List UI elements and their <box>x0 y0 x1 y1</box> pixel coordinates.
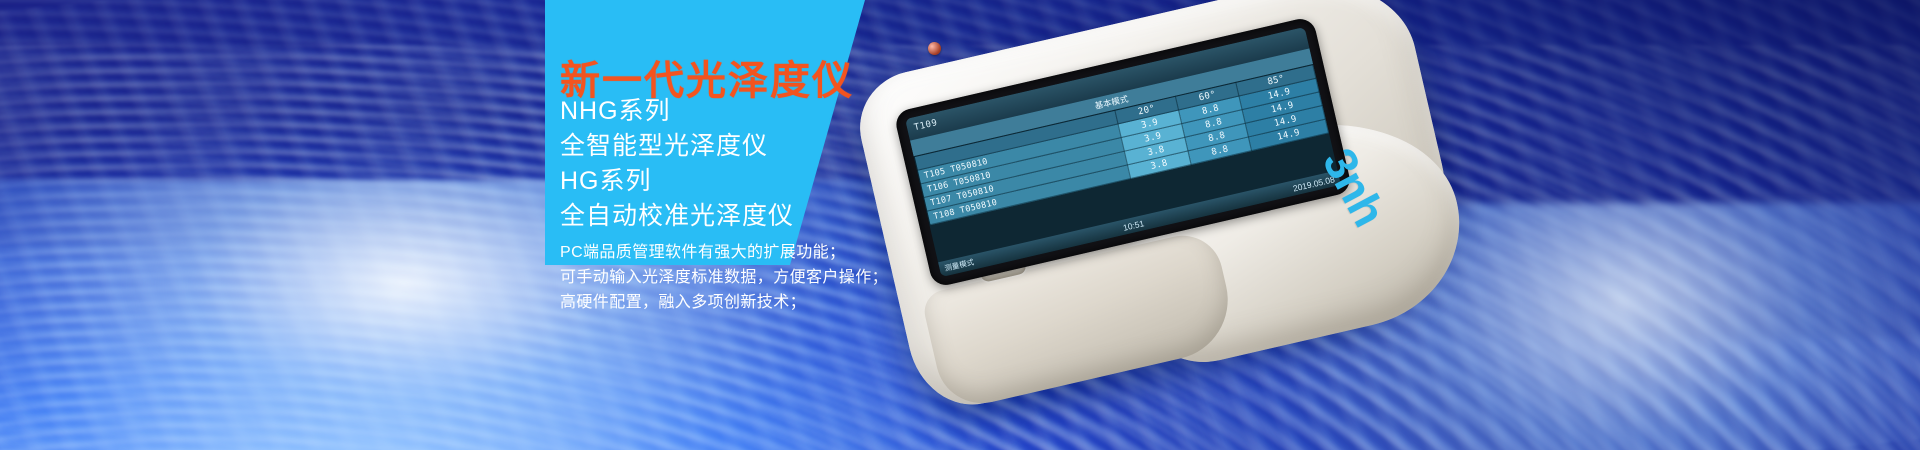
subhead-line-4: 全自动校准光泽度仪 <box>560 199 794 234</box>
subhead-line-3: HG系列 <box>560 164 794 199</box>
product-banner: 新一代光泽度仪 NHG系列 全智能型光泽度仪 HG系列 全自动校准光泽度仪 PC… <box>0 0 1920 450</box>
subhead-line-2: 全智能型光泽度仪 <box>560 129 794 164</box>
subhead-line-1: NHG系列 <box>560 94 794 129</box>
screen-menu-label[interactable]: 测量模式 <box>943 256 975 273</box>
gloss-meter-device: T109 基本模式 20° 60° 85° <box>860 10 1560 440</box>
screen-time: 10:51 <box>1122 218 1145 233</box>
feature-line-2: 可手动输入光泽度标准数据，方便客户操作； <box>560 265 888 290</box>
subhead-list: NHG系列 全智能型光泽度仪 HG系列 全自动校准光泽度仪 <box>560 94 794 234</box>
power-led-icon <box>927 41 943 57</box>
feature-line-3: 高硬件配置，融入多项创新技术； <box>560 290 888 315</box>
feature-paragraph: PC端品质管理软件有强大的扩展功能； 可手动输入光泽度标准数据，方便客户操作； … <box>560 240 888 315</box>
screen-title: T109 <box>913 118 938 133</box>
feature-line-1: PC端品质管理软件有强大的扩展功能； <box>560 240 888 265</box>
